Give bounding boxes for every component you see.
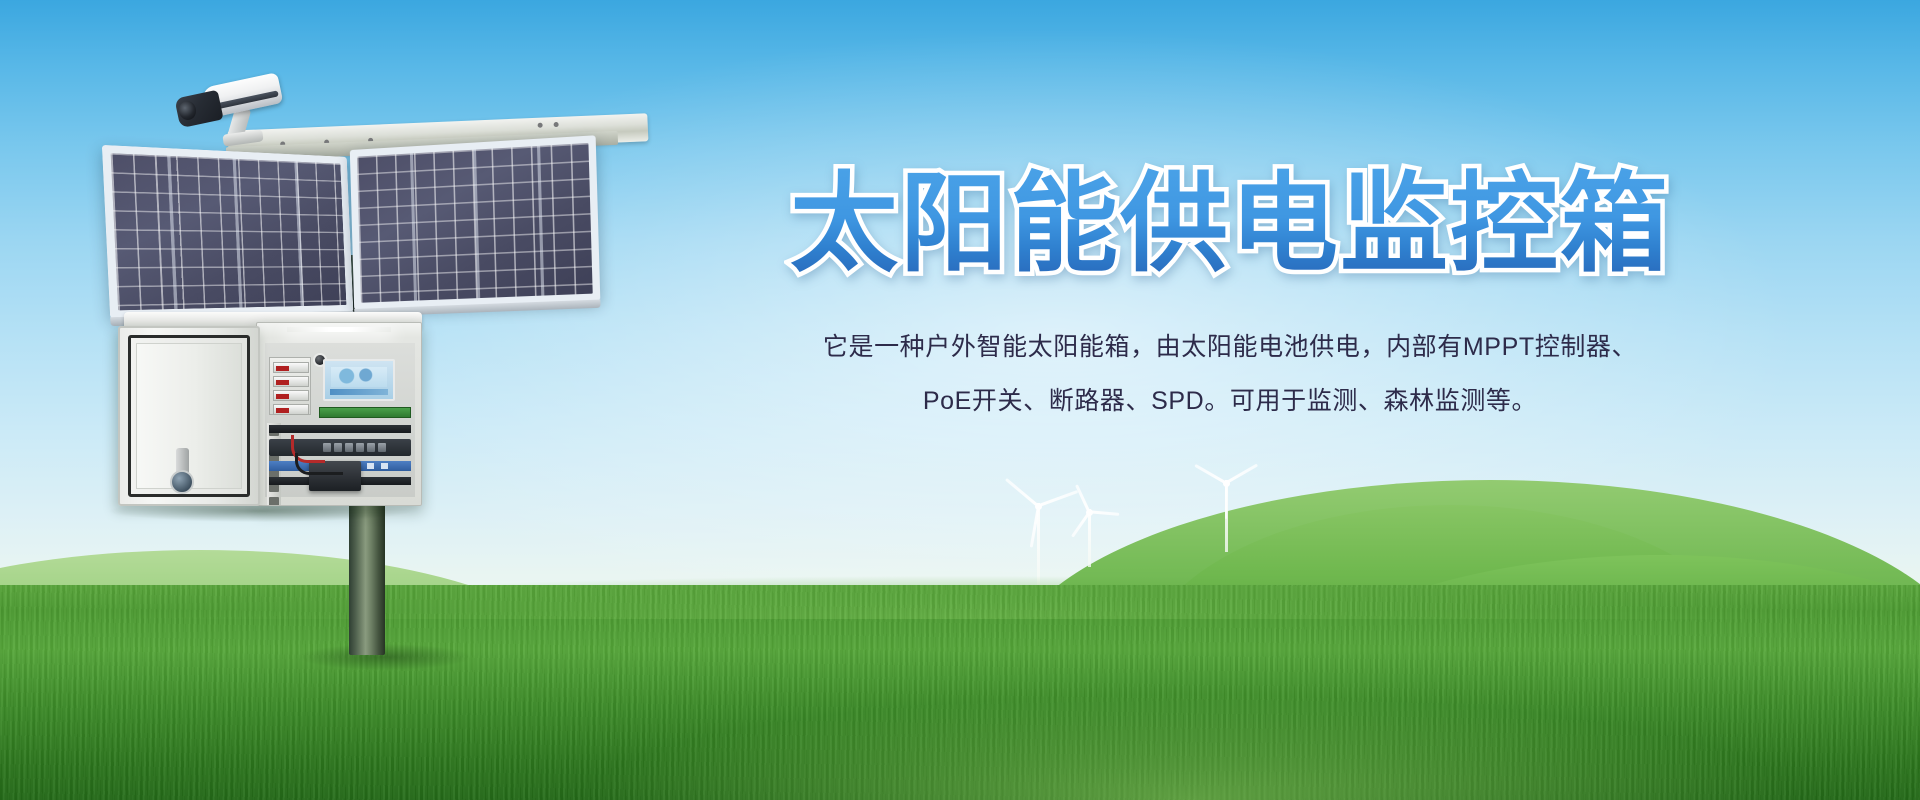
- poe-port: [334, 443, 342, 452]
- black-power-wire: [295, 453, 343, 475]
- rack-module-upper: [269, 425, 411, 433]
- page-title: 太阳能供电监控箱 太阳能供电监控箱: [790, 160, 1670, 287]
- mppt-controller-display: [323, 359, 395, 401]
- turbine-hub: [1035, 503, 1042, 510]
- grass-highlight: [0, 585, 1920, 800]
- turbine-hub: [1223, 480, 1230, 487]
- poe-port: [356, 443, 364, 452]
- banner-copy: 太阳能供电监控箱 太阳能供电监控箱 它是一种户外智能太阳能箱，由太阳能电池供电，…: [640, 160, 1820, 429]
- poe-port: [378, 443, 386, 452]
- cabinet-interior: [265, 343, 415, 497]
- din-clip: [269, 497, 279, 506]
- display-status-bar: [330, 389, 388, 395]
- terminal-block-green: [319, 407, 411, 418]
- solar-cells: [111, 153, 347, 310]
- pole-ground-shadow: [300, 644, 470, 670]
- turbine-blade: [1225, 483, 1228, 519]
- circuit-breaker: [273, 376, 309, 387]
- cabinet-enclosure: [256, 322, 422, 506]
- door-lock[interactable]: [170, 470, 194, 494]
- rail-screw: [554, 122, 559, 127]
- cabinet-door[interactable]: [118, 326, 260, 506]
- turbine-hub: [1086, 509, 1093, 516]
- spd-indicator: [367, 463, 374, 469]
- cabinet-interior-light: [287, 327, 391, 332]
- poe-port-group: [323, 443, 386, 452]
- door-inner-panel: [136, 343, 242, 489]
- solar-panel-array: [120, 62, 720, 332]
- subtitle-line-2: PoE开关、断路器、SPD。可用于监测、森林监测等。: [640, 375, 1820, 429]
- circuit-breaker: [273, 404, 309, 415]
- circuit-breaker-bank: [269, 357, 311, 415]
- circuit-breaker: [273, 390, 309, 401]
- solar-panel-left: [102, 145, 353, 318]
- display-graphics: [331, 367, 387, 387]
- poe-port: [345, 443, 353, 452]
- solar-cabinet-hero-banner: 太阳能供电监控箱 太阳能供电监控箱 它是一种户外智能太阳能箱，由太阳能电池供电，…: [0, 0, 1920, 800]
- banner-subtitle: 它是一种户外智能太阳能箱，由太阳能电池供电，内部有MPPT控制器、 PoE开关、…: [640, 321, 1820, 429]
- security-camera: [175, 74, 295, 146]
- spd-indicator: [381, 463, 388, 469]
- page-title-text: 太阳能供电监控箱: [790, 160, 1670, 287]
- rail-screw: [538, 123, 543, 128]
- subtitle-line-1: 它是一种户外智能太阳能箱，由太阳能电池供电，内部有MPPT控制器、: [640, 321, 1820, 375]
- solar-panel-right: [350, 135, 601, 310]
- poe-port: [367, 443, 375, 452]
- circuit-breaker: [273, 362, 309, 373]
- solar-power-monitoring-cabinet: [118, 312, 428, 517]
- wind-turbine-3: [1208, 480, 1244, 552]
